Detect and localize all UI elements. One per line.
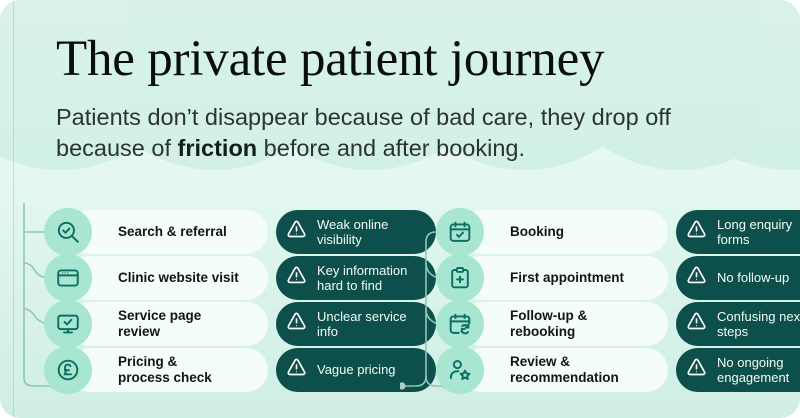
infographic-card: The private patient journey Patients don… xyxy=(0,0,800,418)
page-title: The private patient journey xyxy=(56,30,754,88)
journey-rows-left: Search & referral Weak online visibility xyxy=(44,203,400,409)
friction-label: Weak online visibility xyxy=(317,217,388,248)
journey-rows-right: Booking Long en xyxy=(436,203,792,409)
journey-row[interactable]: First appointment xyxy=(436,256,792,300)
stage-pill[interactable]: Service page review xyxy=(68,302,268,346)
stage-pill[interactable]: Pricing & process check xyxy=(68,348,268,392)
stage-pill[interactable]: Search & referral xyxy=(68,210,268,254)
journey-row[interactable]: Clinic website visit xyxy=(44,256,400,300)
subtitle-emphasis: friction xyxy=(178,135,258,161)
calendar-check-icon xyxy=(436,208,484,256)
search-check-icon xyxy=(44,208,92,256)
journey-row[interactable]: Follow-up & rebooking xyxy=(436,302,792,346)
calendar-refresh-icon xyxy=(436,300,484,348)
friction-label: Confusing next steps xyxy=(717,309,800,340)
person-star-icon xyxy=(436,346,484,394)
journey-column-after-booking: Booking Long en xyxy=(400,203,792,409)
warning-triangle-icon xyxy=(684,309,709,339)
stage-pill[interactable]: First appointment xyxy=(460,256,668,300)
stage-label: Clinic website visit xyxy=(118,270,239,286)
stage-label: Review & recommendation xyxy=(510,354,619,386)
journey-row[interactable]: Booking Long en xyxy=(436,210,792,254)
warning-triangle-icon xyxy=(284,309,309,339)
stage-label: Pricing & process check xyxy=(118,354,212,386)
friction-label: Key information hard to find xyxy=(317,263,407,294)
stage-pill[interactable]: Clinic website visit xyxy=(68,256,268,300)
friction-pill[interactable]: No follow-up xyxy=(676,256,800,300)
friction-pill[interactable]: No ongoing engagement xyxy=(676,348,800,392)
friction-pill[interactable]: Long enquiry forms xyxy=(676,210,800,254)
journey-row[interactable]: Pricing & process check xyxy=(44,348,400,392)
stage-label: Follow-up & rebooking xyxy=(510,308,587,340)
warning-triangle-icon xyxy=(684,217,709,247)
friction-label: No ongoing engagement xyxy=(717,355,789,386)
journey-row[interactable]: Search & referral Weak online visibility xyxy=(44,210,400,254)
warning-triangle-icon xyxy=(284,217,309,247)
clipboard-plus-icon xyxy=(436,254,484,302)
header: The private patient journey Patients don… xyxy=(0,0,800,164)
stage-pill[interactable]: Booking xyxy=(460,210,668,254)
stage-pill[interactable]: Follow-up & rebooking xyxy=(460,302,668,346)
stage-label: First appointment xyxy=(510,270,624,286)
warning-triangle-icon xyxy=(284,355,309,385)
friction-label: Long enquiry forms xyxy=(717,217,792,248)
stage-label: Search & referral xyxy=(118,224,227,240)
subtitle: Patients don’t disappear because of bad … xyxy=(56,102,746,164)
journey-row[interactable]: Review & recommendation xyxy=(436,348,792,392)
warning-triangle-icon xyxy=(684,263,709,293)
journey-column-before-booking: Search & referral Weak online visibility xyxy=(8,203,400,409)
stage-label: Booking xyxy=(510,224,564,240)
pound-sterling-icon xyxy=(44,346,92,394)
warning-triangle-icon xyxy=(284,263,309,293)
monitor-check-icon xyxy=(44,300,92,348)
warning-triangle-icon xyxy=(684,355,709,385)
friction-label: Unclear service info xyxy=(317,309,407,340)
journey-row[interactable]: Service page review xyxy=(44,302,400,346)
friction-pill[interactable]: Confusing next steps xyxy=(676,302,800,346)
friction-label: No follow-up xyxy=(717,270,789,286)
browser-window-icon xyxy=(44,254,92,302)
subtitle-text-2: before and after booking. xyxy=(257,135,525,161)
stage-label: Service page review xyxy=(118,308,201,340)
stage-pill[interactable]: Review & recommendation xyxy=(460,348,668,392)
friction-label: Vague pricing xyxy=(317,362,396,378)
